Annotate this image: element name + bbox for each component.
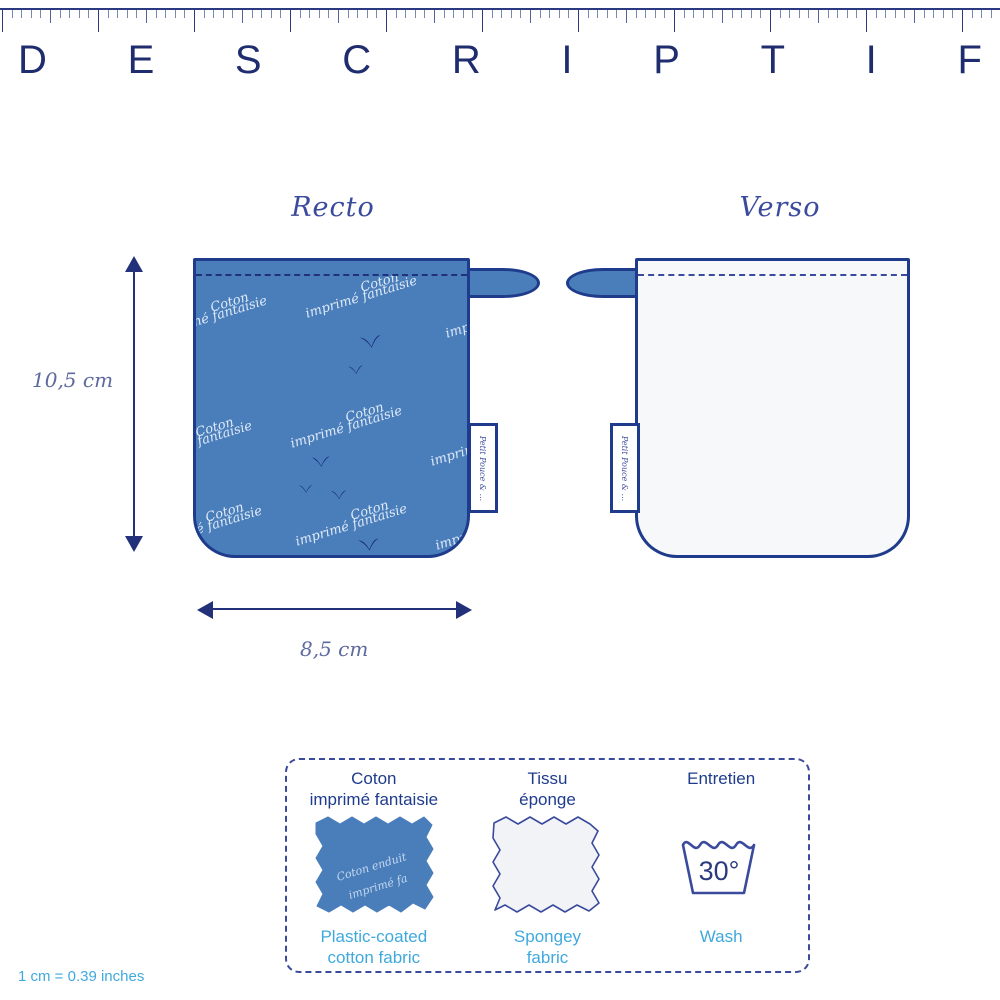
material-fr-label: Coton imprimé fantaisie [291, 768, 456, 814]
recto-hanging-loop [466, 268, 540, 298]
ruler-tick [319, 10, 320, 18]
ruler-tick [549, 10, 550, 18]
ruler-tick [309, 10, 310, 18]
recto-bag-illustration: Cotonimprimé fantaisieCotonimprimé fanta… [193, 258, 470, 558]
ruler-tick [290, 10, 291, 32]
ruler-baseline [0, 8, 1000, 10]
ruler-tick [2, 10, 3, 32]
ruler-tick [12, 10, 13, 18]
title-letter: T [761, 40, 785, 80]
ruler-tick [252, 10, 253, 18]
ruler-tick [741, 10, 742, 18]
ruler-tick [626, 10, 627, 23]
ruler-tick [98, 10, 99, 32]
svg-text:30°: 30° [699, 856, 740, 886]
ruler-tick [31, 10, 32, 18]
care-fr-label: Entretien [639, 768, 804, 814]
title-letter: C [342, 40, 371, 80]
bird-motif [330, 489, 348, 500]
ruler-tick [280, 10, 281, 18]
recto-brand-tag: Petit Pouce & ... [468, 423, 498, 513]
print-text: imprimé fantaisie [434, 505, 470, 553]
ruler-tick [194, 10, 195, 32]
title-letter: I [561, 40, 572, 80]
ruler-tick [271, 10, 272, 18]
ruler-tick [108, 10, 109, 18]
print-text: imprimé fantaisie [289, 403, 404, 451]
ruler-tick [664, 10, 665, 18]
ruler-tick [444, 10, 445, 18]
ruler-tick [607, 10, 608, 18]
verso-bag-illustration [635, 258, 910, 558]
print-text: imprimé fantaisie [294, 501, 409, 549]
title-letter: F [957, 40, 981, 80]
ruler-tick [943, 10, 944, 18]
ruler-tick [184, 10, 185, 18]
ruler-tick [520, 10, 521, 18]
bird-motif [348, 364, 365, 375]
material-fr-label: Tissu éponge [465, 768, 630, 814]
ruler-tick [780, 10, 781, 18]
ruler-tick [530, 10, 531, 23]
ruler-tick [770, 10, 771, 32]
descriptive-sheet: DESCRIPTIF Recto Cotonimprimé fantaisieC… [0, 0, 1000, 1000]
ruler-tick [328, 10, 329, 18]
width-dimension-line [210, 608, 468, 610]
ruler-tick [300, 10, 301, 18]
print-text: Coton [204, 500, 246, 526]
ruler-tick [568, 10, 569, 18]
ruler-tick [856, 10, 857, 18]
ruler-tick [232, 10, 233, 18]
ruler-tick [895, 10, 896, 18]
ruler-tick [367, 10, 368, 18]
verso-stitch-line [638, 274, 907, 276]
ruler-tick [847, 10, 848, 18]
ruler-tick [165, 10, 166, 18]
ruler-tick [866, 10, 867, 32]
ruler-tick [674, 10, 675, 32]
ruler-tick [808, 10, 809, 18]
ruler-tick [415, 10, 416, 18]
print-text: imprimé fantaisie [444, 293, 470, 341]
print-text: Coton [194, 415, 236, 441]
ruler-tick [597, 10, 598, 18]
fabric-print-pattern: Cotonimprimé fantaisieCotonimprimé fanta… [196, 261, 467, 555]
ruler-tick [511, 10, 512, 18]
ruler-tick [376, 10, 377, 18]
ruler-tick [799, 10, 800, 18]
ruler-tick [636, 10, 637, 18]
ruler-tick [703, 10, 704, 18]
ruler-tick [146, 10, 147, 23]
material-en-label: Plastic-coated cotton fabric [291, 926, 456, 969]
ruler-tick [722, 10, 723, 23]
blue-printed-fabric-swatch: Coton enduit imprimé fa [291, 814, 456, 920]
ruler-icon [0, 8, 1000, 34]
bird-motif [311, 455, 332, 468]
care-en-label: Wash [639, 926, 804, 947]
recto-stitch-line [196, 274, 467, 276]
page-title: DESCRIPTIF [0, 34, 1000, 86]
print-text: imprimé fantaisie [193, 503, 264, 551]
ruler-tick [136, 10, 137, 18]
ruler-tick [40, 10, 41, 18]
ruler-tick [405, 10, 406, 18]
ruler-tick [818, 10, 819, 23]
title-letter: R [452, 40, 481, 80]
title-letter: D [18, 40, 47, 80]
ruler-tick [933, 10, 934, 18]
ruler-tick [904, 10, 905, 18]
ruler-tick [453, 10, 454, 18]
material-column-cotton: Coton imprimé fantaisie Coton enduit imp… [291, 768, 456, 969]
ruler-tick [223, 10, 224, 18]
unit-conversion-footnote: 1 cm = 0.39 inches [18, 968, 144, 985]
materials-info-box: Coton imprimé fantaisie Coton enduit imp… [285, 758, 810, 973]
ruler-tick [127, 10, 128, 18]
ruler-tick [645, 10, 646, 18]
ruler-tick [60, 10, 61, 18]
ruler-tick [559, 10, 560, 18]
ruler-tick [348, 10, 349, 18]
title-letter: P [653, 40, 680, 80]
ruler-tick [175, 10, 176, 18]
ruler-tick [732, 10, 733, 18]
ruler-tick [50, 10, 51, 23]
ruler-tick [828, 10, 829, 18]
ruler-tick [952, 10, 953, 18]
ruler-tick [588, 10, 589, 18]
ruler-tick [434, 10, 435, 23]
ruler-tick [751, 10, 752, 18]
ruler-tick [789, 10, 790, 18]
width-dimension-label: 8,5 cm [300, 637, 368, 661]
ruler-tick [876, 10, 877, 18]
ruler-tick [684, 10, 685, 18]
material-en-label: Spongey fabric [465, 926, 630, 969]
ruler-tick [482, 10, 483, 32]
ruler-tick [578, 10, 579, 32]
material-column-care: Entretien 30° Wash [639, 768, 804, 947]
ruler-tick [837, 10, 838, 18]
bird-motif [298, 484, 313, 494]
ruler-tick [117, 10, 118, 18]
ruler-tick [991, 10, 992, 18]
ruler-tick [463, 10, 464, 18]
print-text: Coton [349, 498, 391, 524]
ruler-tick [213, 10, 214, 18]
ruler-tick [492, 10, 493, 18]
ruler-tick [396, 10, 397, 18]
ruler-tick [540, 10, 541, 18]
bird-motif [359, 334, 384, 351]
ruler-tick [21, 10, 22, 18]
ruler-tick [972, 10, 973, 18]
title-letter: I [866, 40, 877, 80]
recto-title: Recto [243, 192, 423, 223]
ruler-tick [501, 10, 502, 18]
ruler-tick [338, 10, 339, 23]
white-terry-fabric-swatch [465, 814, 630, 920]
wash-30-icon: 30° [639, 814, 804, 920]
print-text: imprimé fantaisie [429, 421, 470, 469]
ruler-tick [424, 10, 425, 18]
title-letter: E [128, 40, 155, 80]
ruler-tick [204, 10, 205, 18]
ruler-tick [712, 10, 713, 18]
height-dimension-label: 10,5 cm [32, 368, 113, 392]
ruler-tick [386, 10, 387, 32]
ruler-tick [760, 10, 761, 18]
height-dimension-line [133, 270, 135, 538]
ruler-tick [242, 10, 243, 23]
print-text: imprimé fantaisie [193, 293, 269, 341]
material-column-terry: Tissu éponge Spongey fabric [465, 768, 630, 969]
recto-tag-text: Petit Pouce & ... [479, 435, 488, 500]
ruler-tick [88, 10, 89, 18]
bird-motif [357, 537, 380, 552]
ruler-tick [69, 10, 70, 18]
ruler-tick [357, 10, 358, 18]
ruler-tick [981, 10, 982, 18]
ruler-tick [914, 10, 915, 23]
ruler-tick [79, 10, 80, 18]
ruler-tick [962, 10, 963, 32]
ruler-tick [924, 10, 925, 18]
verso-hanging-loop [566, 268, 640, 298]
height-arrow-bottom [125, 536, 143, 552]
title-letter: S [235, 40, 262, 80]
ruler-tick [156, 10, 157, 18]
ruler-tick [693, 10, 694, 18]
ruler-tick [261, 10, 262, 18]
print-text: Coton [209, 290, 251, 316]
print-text: Coton [344, 400, 386, 426]
ruler-tick [616, 10, 617, 18]
verso-brand-tag: Petit Pouce & ... [610, 423, 640, 513]
ruler-tick [655, 10, 656, 18]
width-arrow-right [456, 601, 472, 619]
ruler-tick [885, 10, 886, 18]
ruler-tick [472, 10, 473, 18]
width-arrow-left [197, 601, 213, 619]
verso-title: Verso [690, 192, 870, 223]
print-text: imprimé fantaisie [304, 273, 419, 321]
print-text: imprimé fantaisie [193, 418, 254, 466]
verso-tag-text: Petit Pouce & ... [621, 435, 630, 500]
